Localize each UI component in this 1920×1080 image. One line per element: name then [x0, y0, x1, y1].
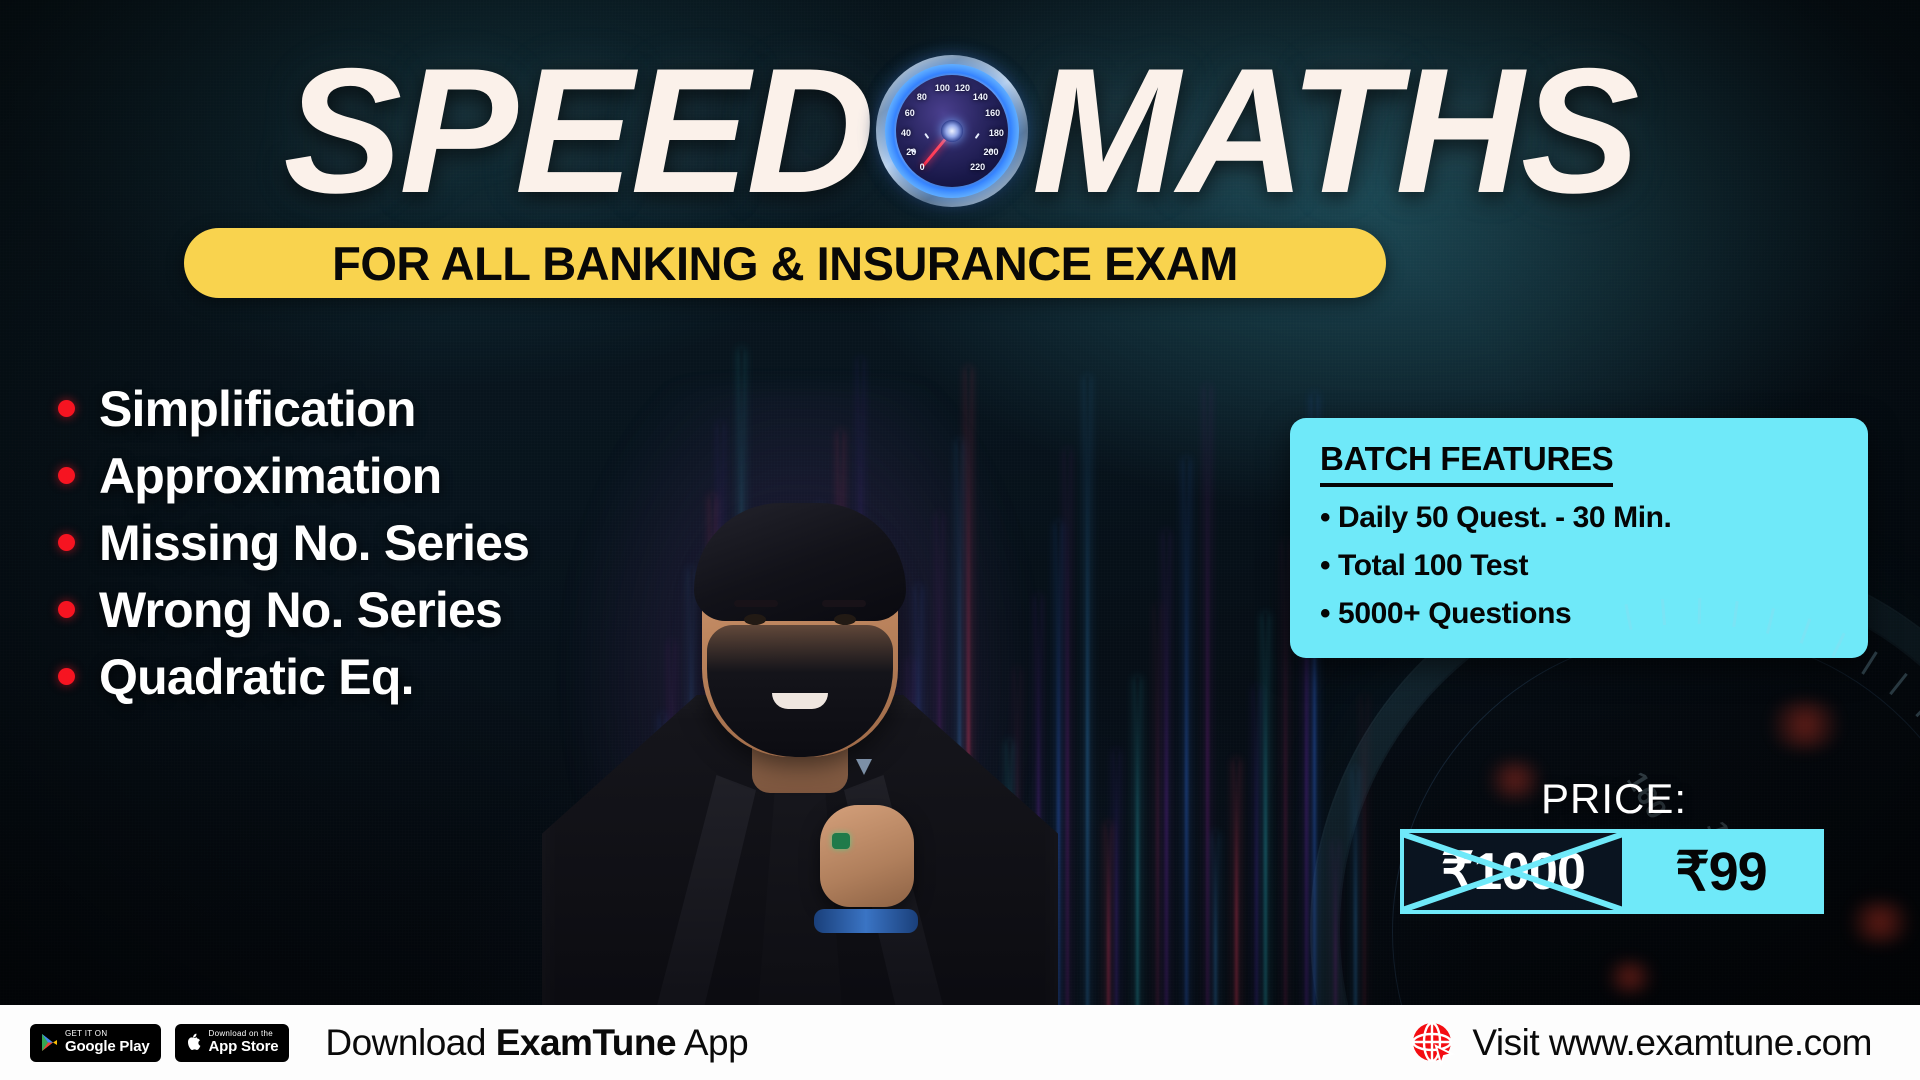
topic-label: Wrong No. Series	[99, 581, 502, 639]
title-word-maths: MATHS	[1032, 42, 1637, 220]
gauge-tick	[924, 133, 929, 139]
apple-icon	[186, 1033, 202, 1052]
price-section: PRICE: ₹1000 ₹99	[1400, 775, 1860, 914]
presenter-fist	[820, 805, 914, 907]
topic-label: Simplification	[99, 380, 416, 438]
presenter-mouth	[772, 693, 828, 709]
new-price-value: ₹99	[1675, 840, 1766, 903]
subtitle-banner: FOR ALL BANKING & INSURANCE EXAM	[184, 228, 1386, 298]
background-red-glow	[1760, 700, 1850, 750]
google-play-icon	[41, 1033, 58, 1052]
presenter-eyebrow-right	[822, 600, 866, 607]
presenter-wristband	[814, 909, 918, 933]
bullet-dot-icon	[58, 467, 75, 484]
batch-features-box: BATCH FEATURES • Daily 50 Quest. - 30 Mi…	[1290, 418, 1868, 658]
google-play-badge[interactable]: GET IT ON Google Play	[30, 1024, 161, 1062]
presenter-eye-left	[744, 614, 766, 625]
gauge-number: 100	[935, 83, 950, 93]
background-red-glow	[1480, 760, 1550, 800]
globe-cursor-icon	[1410, 1020, 1456, 1066]
footer-bar: GET IT ON Google Play Download on the Ap…	[0, 1005, 1920, 1080]
footer-right-group[interactable]: Visit www.examtune.com	[1410, 1020, 1872, 1066]
gauge-number: 40	[901, 128, 911, 138]
gauge-hub	[941, 120, 963, 142]
banner-title: SPEED 020406080100120140160180200220 MAT…	[0, 42, 1920, 220]
title-word-speed: SPEED	[283, 42, 871, 220]
topic-label: Approximation	[99, 447, 441, 505]
speed-maths-promo-banner: 160 180 SPEED 02040608010012014016018020…	[0, 0, 1920, 1080]
old-price-cell: ₹1000	[1404, 833, 1622, 910]
download-text-post: App	[676, 1022, 748, 1063]
list-item: • Total 100 Test	[1320, 549, 1838, 583]
price-box: ₹1000 ₹99	[1400, 829, 1824, 914]
new-price-cell: ₹99	[1622, 833, 1820, 910]
gauge-number: 160	[985, 108, 1000, 118]
background-red-glow	[1840, 900, 1920, 944]
gauge-number: 0	[920, 162, 925, 172]
google-play-badge-big: Google Play	[65, 1039, 150, 1055]
bullet-dot-icon	[58, 668, 75, 685]
presenter-photo	[520, 325, 1080, 1025]
topic-label: Quadratic Eq.	[99, 648, 414, 706]
gauge-number: 140	[973, 92, 988, 102]
list-item: • 5000+ Questions	[1320, 597, 1838, 631]
gauge-tick	[905, 169, 911, 171]
gauge-tick	[975, 133, 980, 139]
presenter-eye-right	[834, 614, 856, 625]
gauge-number: 80	[917, 92, 927, 102]
topic-label: Missing No. Series	[99, 514, 529, 572]
bullet-dot-icon	[58, 601, 75, 618]
gauge-number: 180	[989, 128, 1004, 138]
bullet-dot-icon	[58, 400, 75, 417]
gauge-number: 220	[970, 162, 985, 172]
footer-left-group: GET IT ON Google Play Download on the Ap…	[30, 1022, 748, 1064]
download-brand: ExamTune	[496, 1022, 676, 1063]
background-red-glow	[1600, 960, 1660, 994]
batch-features-title: BATCH FEATURES	[1320, 440, 1613, 487]
download-text-pre: Download	[325, 1022, 495, 1063]
speedometer-icon: 020406080100120140160180200220	[876, 55, 1028, 207]
batch-features-list: • Daily 50 Quest. - 30 Min. • Total 100 …	[1320, 501, 1838, 631]
list-item: • Daily 50 Quest. - 30 Min.	[1320, 501, 1838, 535]
download-app-text: Download ExamTune App	[325, 1022, 748, 1064]
presenter-ring	[832, 833, 850, 849]
app-store-badge-big: App Store	[209, 1039, 279, 1055]
subtitle-text: FOR ALL BANKING & INSURANCE EXAM	[332, 236, 1238, 291]
gauge-number: 120	[955, 83, 970, 93]
gauge-number: 60	[905, 108, 915, 118]
gauge-tick	[993, 169, 999, 171]
gauge-number: 200	[984, 147, 999, 157]
app-store-badge[interactable]: Download on the App Store	[175, 1024, 290, 1062]
presenter-eyebrow-left	[734, 600, 778, 607]
bullet-dot-icon	[58, 534, 75, 551]
visit-website-text[interactable]: Visit www.examtune.com	[1472, 1022, 1872, 1064]
